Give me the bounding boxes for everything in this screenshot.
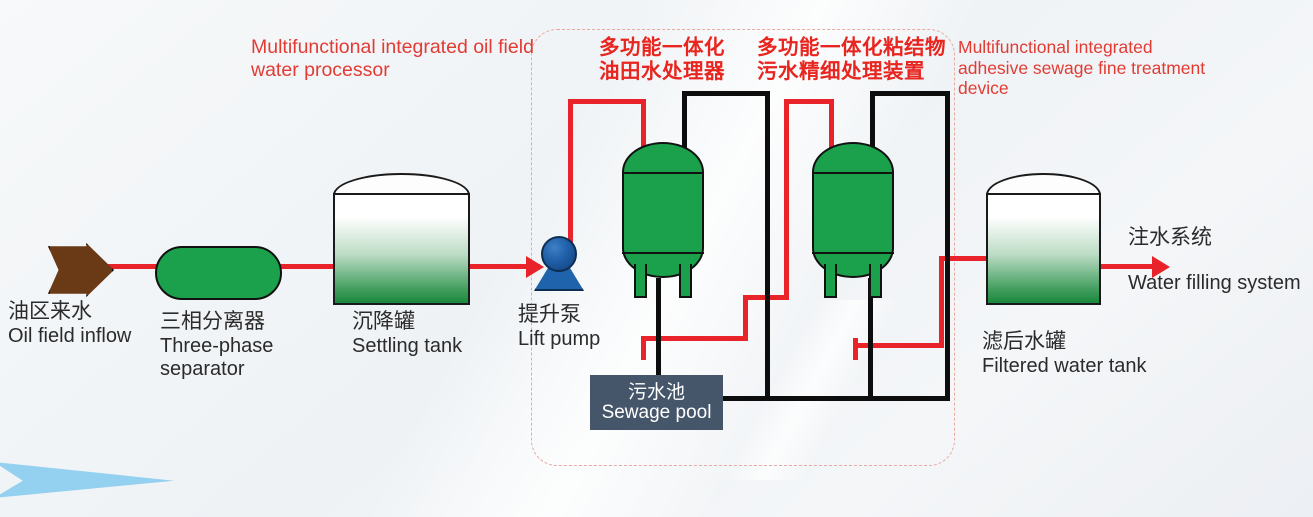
inflow-arrow-icon bbox=[48, 243, 114, 297]
pipe-inflow-to-separator bbox=[108, 264, 158, 269]
annotation-unit2-cn: 多功能一体化粘结物 污水精细处理装置 bbox=[757, 36, 957, 84]
pipe-vent-vessel2-run bbox=[870, 91, 950, 96]
filtered-water-tank-body bbox=[986, 193, 1101, 305]
filtered-water-tank-dome bbox=[986, 173, 1101, 195]
settling-tank-dome bbox=[333, 173, 470, 195]
vessel2-leg-right bbox=[869, 264, 882, 298]
label-water-filling-system: 注水系统 Water filling system bbox=[1128, 226, 1313, 251]
pipe-pump-riser bbox=[568, 99, 573, 253]
settling-tank-body bbox=[333, 193, 470, 305]
vessel2-lower-seam bbox=[812, 252, 894, 254]
pipe-vent-vessel2-downleg bbox=[945, 91, 950, 401]
adhesive-sewage-fine-treatment-vessel bbox=[812, 142, 894, 278]
pipe-vessel2-outlet-run bbox=[853, 343, 943, 348]
label-oil-field-inflow: 油区来水 Oil field inflow bbox=[8, 300, 178, 348]
pipe-drain-bus bbox=[718, 396, 950, 401]
pipe-riser-to-filtered-tank bbox=[939, 256, 944, 348]
filtered-water-tank bbox=[986, 173, 1101, 303]
lift-pump bbox=[534, 236, 584, 291]
sewage-pool-label-en: Sewage pool bbox=[602, 403, 712, 423]
pipe-vent-vessel1-downleg bbox=[765, 91, 770, 401]
label-filtered-water-tank: 滤后水罐 Filtered water tank bbox=[982, 330, 1202, 378]
vessel1-lower-seam bbox=[622, 252, 704, 254]
vessel1-leg-right bbox=[679, 264, 692, 298]
decorative-wedge-icon bbox=[0, 462, 174, 498]
sewage-pool-label-cn: 污水池 bbox=[628, 383, 685, 403]
sewage-pool: 污水池 Sewage pool bbox=[590, 375, 723, 430]
vessel2-upper-seam bbox=[812, 172, 894, 174]
annotation-water-processor: Multifunctional integrated oil field wat… bbox=[251, 36, 551, 82]
pipe-interstage-riser-lower bbox=[743, 295, 748, 341]
pipe-separator-to-settling-tank bbox=[280, 264, 335, 269]
pipe-top-run-to-vessel2 bbox=[784, 99, 834, 104]
annotation-unit1-cn: 多功能一体化 油田水处理器 bbox=[599, 36, 749, 84]
pipe-vent-vessel1-run bbox=[682, 91, 770, 96]
settling-tank bbox=[333, 173, 470, 303]
label-lift-pump: 提升泵 Lift pump bbox=[518, 303, 648, 351]
process-flow-diagram: Multifunctional integrated oil field wat… bbox=[0, 0, 1313, 517]
vessel1-shell bbox=[622, 142, 704, 278]
pipe-top-run-to-vessel1 bbox=[568, 99, 646, 104]
label-settling-tank: 沉降罐 Settling tank bbox=[352, 310, 512, 358]
pipe-drain-vessel1-down bbox=[656, 278, 661, 378]
three-phase-separator bbox=[155, 246, 282, 300]
integrated-oilfield-water-processor-vessel bbox=[622, 142, 704, 278]
vessel2-leg-left bbox=[824, 264, 837, 298]
pipe-interstage-riser-upper bbox=[784, 99, 789, 300]
lift-pump-head-icon bbox=[541, 236, 577, 272]
label-three-phase-separator: 三相分离器 Three-phase separator bbox=[160, 310, 340, 381]
vessel2-shell bbox=[812, 142, 894, 278]
vessel1-upper-seam bbox=[622, 172, 704, 174]
pipe-vessel2-outlet-drop bbox=[853, 338, 858, 360]
annotation-unit2-en: Multifunctional integrated adhesive sewa… bbox=[958, 37, 1228, 99]
vessel1-leg-left bbox=[634, 264, 647, 298]
